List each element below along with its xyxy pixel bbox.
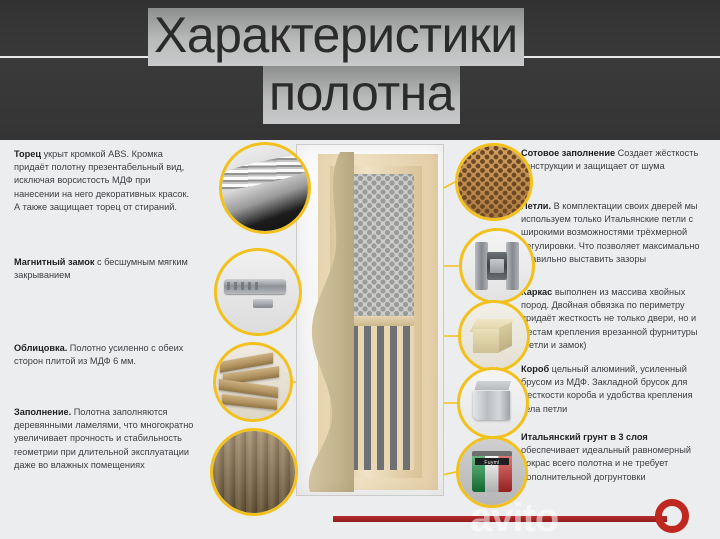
infographic-poster: Характеристики полотна Торец укрыт кромк… bbox=[0, 0, 720, 539]
abs-edge-strips-icon bbox=[219, 142, 311, 234]
mdf-boards-icon bbox=[213, 342, 293, 422]
avito-watermark: avito bbox=[470, 494, 710, 538]
primer-label-text: Fuyml bbox=[475, 458, 509, 465]
avito-logo-circle-icon bbox=[655, 499, 689, 533]
wood-block-icon bbox=[458, 300, 530, 372]
hidden-hinge-icon bbox=[459, 228, 535, 304]
avito-watermark-text: avito bbox=[470, 496, 558, 539]
aluminium-box-icon bbox=[457, 367, 529, 439]
wood-lamellas-icon bbox=[210, 428, 298, 516]
door-cutaway-illustration bbox=[296, 144, 444, 496]
honeycomb-icon bbox=[455, 143, 533, 221]
magnetic-lock-icon bbox=[214, 248, 302, 336]
